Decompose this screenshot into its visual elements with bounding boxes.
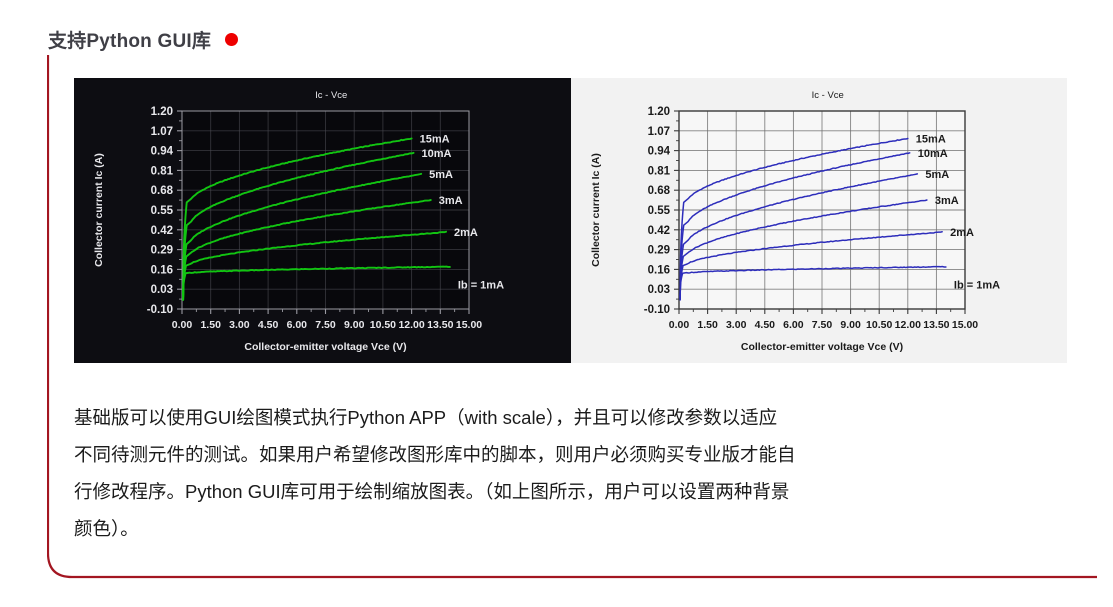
paragraph-line: 基础版可以使用GUI绘图模式执行Python APP（with scale），并…: [74, 399, 1069, 436]
page-root: 支持Python GUI库 Ic - Vce1.201.070.940.810.…: [0, 0, 1113, 607]
y-tick-label: 0.68: [648, 185, 671, 197]
x-tick-label: 15.00: [952, 319, 978, 331]
x-tick-label: 10.50: [370, 319, 396, 331]
chart-title: Ic - Vce: [812, 90, 844, 101]
series-label-10mA: 10mA: [422, 148, 452, 160]
chart-panel-light[interactable]: Ic - Vce1.201.070.940.810.680.550.420.29…: [571, 78, 1067, 363]
dark-theme-chart: Ic - Vce1.201.070.940.810.680.550.420.29…: [74, 78, 571, 363]
y-tick-label: 0.16: [151, 264, 173, 276]
x-tick-label: 3.00: [229, 319, 250, 331]
x-tick-label: 15.00: [456, 319, 482, 331]
chart-panel-dark[interactable]: Ic - Vce1.201.070.940.810.680.550.420.29…: [74, 78, 571, 363]
x-tick-label: 1.50: [697, 319, 718, 331]
x-tick-label: 9.00: [840, 319, 861, 331]
x-tick-label: 0.00: [172, 319, 193, 331]
x-tick-label: 10.50: [866, 319, 892, 331]
y-tick-label: -0.10: [147, 304, 173, 316]
x-tick-label: 6.00: [287, 319, 308, 331]
chart-title: Ic - Vce: [315, 90, 347, 101]
y-axis-label: Collector current Ic (A): [93, 153, 105, 267]
x-tick-label: 4.50: [755, 319, 776, 331]
x-tick-label: 7.50: [315, 319, 336, 331]
x-tick-label: 13.50: [427, 319, 453, 331]
y-tick-label: 0.29: [648, 245, 670, 257]
series-label-1mA: Ib = 1mA: [954, 280, 1000, 292]
series-label-3mA: 3mA: [935, 195, 959, 207]
series-label-5mA: 5mA: [429, 169, 453, 181]
series-label-10mA: 10mA: [918, 148, 948, 160]
y-tick-label: 0.16: [648, 264, 670, 276]
y-tick-label: 0.03: [151, 284, 173, 296]
x-tick-label: 12.00: [398, 319, 424, 331]
paragraph-line: 不同待测元件的测试。如果用户希望修改图形库中的脚本，则用户必须购买专业版才能自: [74, 436, 1069, 473]
section-heading: 支持Python GUI库: [48, 24, 238, 54]
y-tick-label: 0.68: [151, 185, 174, 197]
x-tick-label: 3.00: [726, 319, 747, 331]
series-label-2mA: 2mA: [950, 227, 974, 239]
y-tick-label: 0.29: [151, 245, 173, 257]
y-tick-label: 0.81: [648, 165, 671, 177]
x-axis-label: Collector-emitter voltage Vce (V): [244, 341, 406, 353]
paragraph-line: 颜色）。: [74, 510, 1069, 547]
y-tick-label: 1.20: [648, 106, 670, 118]
x-tick-label: 9.00: [344, 319, 365, 331]
y-tick-label: 0.42: [648, 225, 670, 237]
y-tick-label: 0.81: [151, 165, 174, 177]
x-tick-label: 7.50: [812, 319, 833, 331]
y-axis-label: Collector current Ic (A): [590, 153, 602, 267]
y-tick-label: -0.10: [644, 304, 670, 316]
y-tick-label: 1.07: [648, 126, 670, 138]
y-tick-label: 0.94: [648, 146, 671, 158]
series-label-3mA: 3mA: [439, 195, 463, 207]
light-theme-chart: Ic - Vce1.201.070.940.810.680.550.420.29…: [571, 78, 1067, 363]
y-tick-label: 1.20: [151, 106, 173, 118]
series-label-5mA: 5mA: [925, 169, 949, 181]
x-axis-label: Collector-emitter voltage Vce (V): [741, 341, 903, 353]
content-column: Ic - Vce1.201.070.940.810.680.550.420.29…: [74, 78, 1067, 547]
y-tick-label: 1.07: [151, 126, 173, 138]
y-tick-label: 0.55: [151, 205, 174, 217]
y-tick-label: 0.94: [151, 146, 174, 158]
x-tick-label: 6.00: [783, 319, 804, 331]
series-label-15mA: 15mA: [916, 133, 946, 145]
paragraph-line: 行修改程序。Python GUI库可用于绘制缩放图表。（如上图所示，用户可以设置…: [74, 473, 1069, 510]
x-tick-label: 0.00: [669, 319, 690, 331]
series-label-15mA: 15mA: [420, 133, 450, 145]
y-tick-label: 0.42: [151, 225, 173, 237]
x-tick-label: 12.00: [895, 319, 921, 331]
page-title: 支持Python GUI库: [48, 26, 211, 53]
x-tick-label: 4.50: [258, 319, 279, 331]
y-tick-label: 0.03: [648, 284, 670, 296]
red-dot-icon: [225, 33, 238, 46]
y-tick-label: 0.55: [648, 205, 671, 217]
body-paragraph: 基础版可以使用GUI绘图模式执行Python APP（with scale），并…: [74, 399, 1069, 547]
series-label-1mA: Ib = 1mA: [458, 280, 504, 292]
charts-figure: Ic - Vce1.201.070.940.810.680.550.420.29…: [74, 78, 1067, 363]
x-tick-label: 1.50: [200, 319, 221, 331]
series-label-2mA: 2mA: [454, 227, 478, 239]
x-tick-label: 13.50: [923, 319, 949, 331]
